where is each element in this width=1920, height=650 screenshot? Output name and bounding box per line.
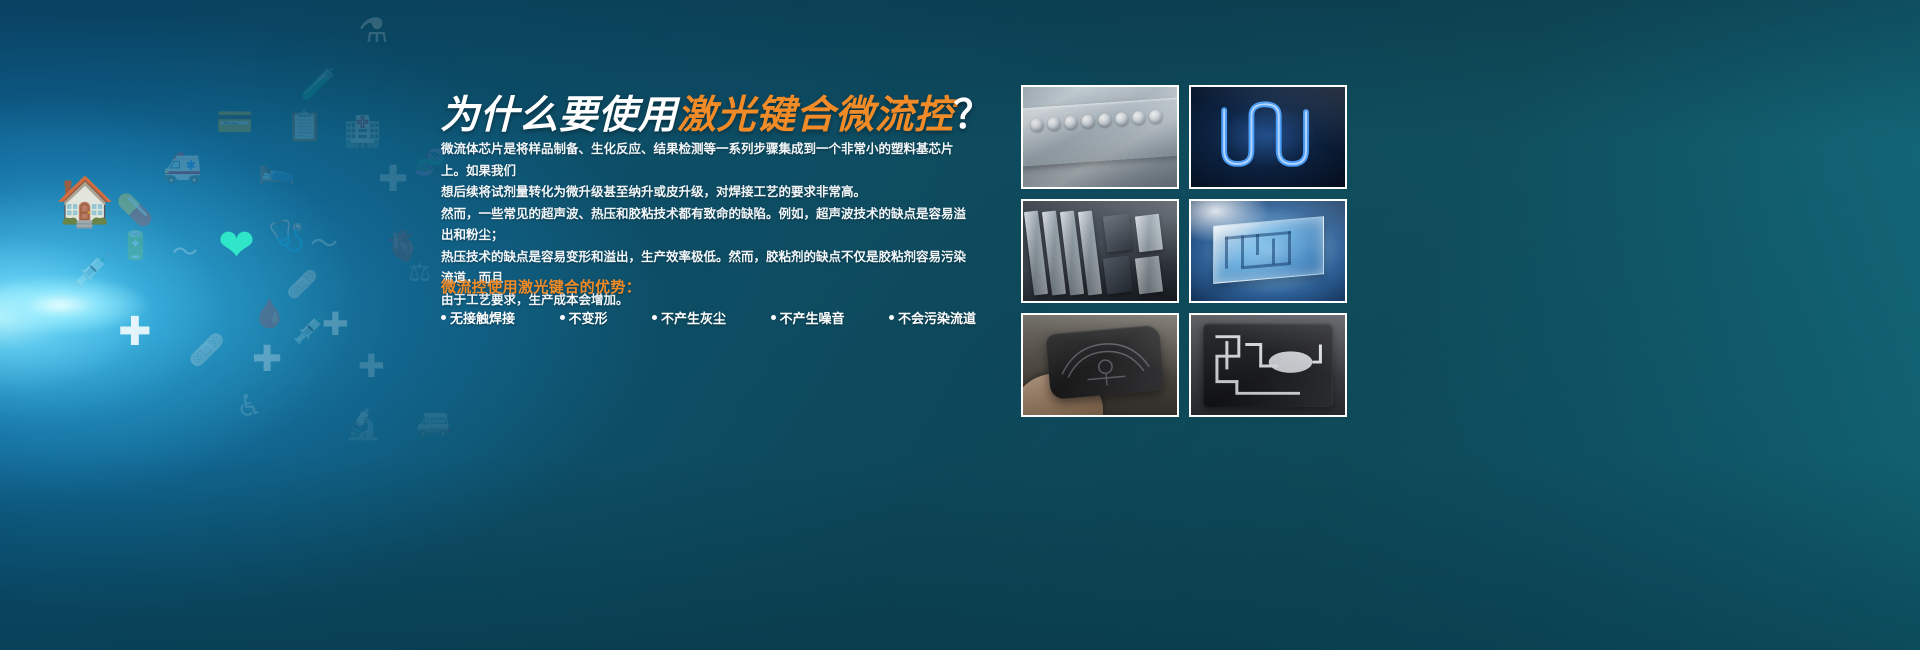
photo-serpentine-microchannel-blue (1189, 85, 1347, 189)
house-medical-icon: 🏠 (55, 178, 115, 226)
list-item: 不产生灰尘 (652, 308, 726, 327)
kidney-icon: 🫀 (384, 232, 421, 262)
light-beam-core (0, 265, 180, 345)
pill-capsule-icon: 💉 (72, 254, 112, 286)
syringe-icon: 💉 (292, 316, 327, 344)
bullet-dot-icon (771, 315, 776, 320)
clipboard-icon: 📋 (286, 112, 323, 142)
photo-black-cartridge-with-oval-chamber (1189, 313, 1347, 417)
blood-bag-icon: 🩸 (252, 300, 287, 328)
advantages-list: 无接触焊接 不变形 不产生灰尘 不产生噪音 不会污染流道 (441, 308, 976, 327)
ekg-icon: 〜 (172, 240, 198, 266)
paragraph-line-2: 想后续将试剂量转化为微升级甚至纳升或皮升级，对焊接工艺的要求非常高。 (441, 182, 971, 204)
microscope-icon: 🔬 (344, 410, 381, 440)
bandage-icon: 🩹 (286, 272, 318, 298)
bullet-dot-icon (889, 315, 894, 320)
list-item: 不产生噪音 (771, 308, 845, 327)
cross-small-icon: ✚ (322, 308, 349, 340)
list-item: 不会污染流道 (889, 308, 976, 327)
id-card-icon: 💳 (216, 108, 253, 138)
list-item: 不变形 (560, 308, 608, 327)
title-highlight: 激光键合微流控 (677, 94, 954, 137)
photo-blue-transparent-bonded-block (1189, 199, 1347, 303)
photo-clear-microfluidic-strips-array (1021, 199, 1179, 303)
title-question-mark: ？ (954, 94, 994, 137)
first-aid-kit-icon: 🩹 (188, 336, 225, 366)
list-item: 无接触焊接 (441, 308, 515, 327)
flask-icon: ⚗ (358, 14, 388, 48)
bullet-dot-icon (560, 315, 565, 320)
hospital-bed-icon: 🛌 (258, 154, 295, 184)
advantage-label: 不产生灰尘 (661, 308, 726, 327)
serpentine-channel-icon (1191, 87, 1345, 187)
bullet-dot-icon (652, 315, 657, 320)
paragraph-line-1: 微流体芯片是将样品制备、生化反应、结果检测等一系列步骤集成到一个非常小的塑料基芯… (441, 139, 971, 182)
wheelchair-icon: ♿ (236, 392, 263, 422)
mortar-icon: ⚖ (408, 260, 431, 286)
paragraph-line-3: 然而，一些常见的超声波、热压和胶粘技术都有致命的缺陷。例如，超声波技术的缺点是容… (441, 204, 971, 247)
cross-icon: ✚ (378, 162, 408, 198)
photo-clear-chip-with-round-wells (1021, 85, 1179, 189)
photo-black-flexible-chip-in-hand (1021, 313, 1179, 417)
ekg-line-icon: 〜 (310, 230, 338, 258)
red-cross-icon: ✚ (252, 342, 282, 378)
advantages-subheading: 微流控使用激光键合的优势： (441, 276, 641, 297)
ambulance-icon: 🚑 (162, 150, 202, 182)
promo-banner: ⚗ 🧪 💳 📋 🏥 🚑 🛌 ✚ 🏠 💊 🔋 ❤ 〜 🩺 〜 🫀 💉 🩹 ✚ 🩸 … (0, 0, 1920, 650)
title-plain-prefix: 为什么要使用 (440, 94, 677, 137)
advantage-label: 不变形 (569, 308, 608, 327)
pill-icon: 💊 (116, 196, 153, 226)
battery-icon: 🔋 (118, 232, 153, 260)
advantage-label: 不会污染流道 (898, 308, 976, 327)
product-photo-grid (1021, 85, 1347, 415)
medical-cross-icon: ✚ (118, 312, 152, 352)
cross-outline-icon: ✚ (358, 350, 385, 382)
bullet-dot-icon (441, 315, 446, 320)
advantage-label: 无接触焊接 (450, 308, 515, 327)
text-column: 为什么要使用激光键合微流控？ 微流体芯片是将样品制备、生化反应、结果检测等一系列… (440, 0, 980, 650)
stethoscope-icon: 🩺 (268, 222, 305, 252)
heart-pulse-icon: ❤ (218, 224, 255, 268)
light-beam-glow (0, 150, 410, 480)
test-tube-icon: 🧪 (300, 70, 337, 100)
hospital-building-icon: 🏥 (344, 118, 381, 148)
advantage-label: 不产生噪音 (780, 308, 845, 327)
page-title: 为什么要使用激光键合微流控？ (440, 84, 993, 140)
